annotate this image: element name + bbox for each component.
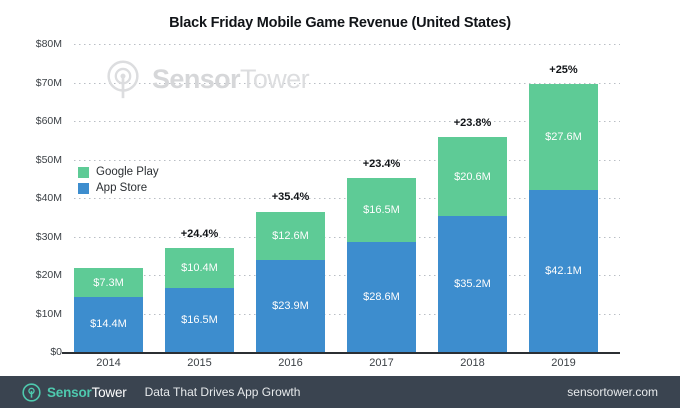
watermark-brand-bold: Sensor xyxy=(152,64,240,94)
bar-value-label-google-play: $10.4M xyxy=(181,262,218,274)
bar-segment-google-play[interactable]: $7.3M xyxy=(74,268,143,296)
bar-stack[interactable]: $42.1M$27.6M xyxy=(529,84,598,352)
gridline xyxy=(74,44,620,45)
growth-annotation: +24.4% xyxy=(140,228,260,240)
bar-value-label-google-play: $7.3M xyxy=(93,277,124,289)
growth-annotation: +25% xyxy=(504,64,624,76)
bar-value-label-app-store: $14.4M xyxy=(90,318,127,330)
bar-segment-google-play[interactable]: $12.6M xyxy=(256,212,325,261)
bar-value-label-app-store: $42.1M xyxy=(545,265,582,277)
bar-segment-app-store[interactable]: $35.2M xyxy=(438,216,507,352)
sensortower-watermark: SensorTower xyxy=(100,56,309,102)
bar-stack[interactable]: $28.6M$16.5M xyxy=(347,178,416,352)
bar-segment-app-store[interactable]: $16.5M xyxy=(165,288,234,352)
footer-logo[interactable]: SensorTower xyxy=(22,383,127,402)
sensortower-logo-icon xyxy=(100,56,146,102)
growth-annotation: +23.4% xyxy=(322,158,442,170)
bar-value-label-google-play: $20.6M xyxy=(454,171,491,183)
footer-tagline: Data That Drives App Growth xyxy=(145,385,301,399)
footer-brand-light: Tower xyxy=(92,385,127,400)
legend-swatch-google-play xyxy=(78,167,89,178)
bar-segment-google-play[interactable]: $20.6M xyxy=(438,137,507,216)
bar-value-label-app-store: $35.2M xyxy=(454,278,491,290)
y-axis-tick-label: $20M xyxy=(0,269,62,281)
y-axis-tick-label: $40M xyxy=(0,192,62,204)
bar-segment-google-play[interactable]: $10.4M xyxy=(165,248,234,288)
bar-segment-app-store[interactable]: $14.4M xyxy=(74,297,143,352)
bar-stack[interactable]: $35.2M$20.6M xyxy=(438,137,507,352)
watermark-text: SensorTower xyxy=(152,64,309,95)
bar-value-label-google-play: $27.6M xyxy=(545,131,582,143)
bar-value-label-app-store: $16.5M xyxy=(181,314,218,326)
chart-legend: Google Play App Store xyxy=(78,165,159,197)
bar-stack[interactable]: $14.4M$7.3M xyxy=(74,268,143,352)
bar-value-label-google-play: $16.5M xyxy=(363,204,400,216)
footer-brand: SensorTower xyxy=(47,385,127,400)
footer-website[interactable]: sensortower.com xyxy=(567,385,658,399)
x-axis-tick-label: 2019 xyxy=(504,357,624,369)
bar-segment-app-store[interactable]: $23.9M xyxy=(256,260,325,352)
y-axis-tick-label: $50M xyxy=(0,154,62,166)
footer-brand-bold: Sensor xyxy=(47,385,92,400)
bar-value-label-google-play: $12.6M xyxy=(272,230,309,242)
chart-container: Black Friday Mobile Game Revenue (United… xyxy=(0,0,680,408)
bar-value-label-app-store: $23.9M xyxy=(272,300,309,312)
bar-segment-google-play[interactable]: $16.5M xyxy=(347,178,416,242)
y-axis-tick-label: $70M xyxy=(0,77,62,89)
bar-segment-app-store[interactable]: $28.6M xyxy=(347,242,416,352)
plot-area: $0$10M$20M$30M$40M$50M$60M$70M$80M Senso… xyxy=(0,0,680,408)
legend-label-google-play: Google Play xyxy=(96,166,159,178)
bar-segment-google-play[interactable]: $27.6M xyxy=(529,84,598,190)
growth-annotation: +35.4% xyxy=(231,191,351,203)
legend-swatch-app-store xyxy=(78,183,89,194)
bar-segment-app-store[interactable]: $42.1M xyxy=(529,190,598,352)
footer-bar: SensorTower Data That Drives App Growth … xyxy=(0,376,680,408)
legend-label-app-store: App Store xyxy=(96,182,147,194)
growth-annotation: +23.8% xyxy=(413,117,533,129)
bar-stack[interactable]: $16.5M$10.4M xyxy=(165,248,234,352)
bar-stack[interactable]: $23.9M$12.6M xyxy=(256,211,325,352)
watermark-brand-light: Tower xyxy=(240,64,309,94)
x-axis-line xyxy=(62,352,620,354)
y-axis-tick-label: $60M xyxy=(0,115,62,127)
legend-item-google-play[interactable]: Google Play xyxy=(78,165,159,179)
bar-value-label-app-store: $28.6M xyxy=(363,291,400,303)
y-axis-tick-label: $80M xyxy=(0,38,62,50)
y-axis-tick-label: $30M xyxy=(0,231,62,243)
legend-item-app-store[interactable]: App Store xyxy=(78,181,159,195)
sensortower-logo-icon xyxy=(22,383,41,402)
y-axis-tick-label: $10M xyxy=(0,308,62,320)
